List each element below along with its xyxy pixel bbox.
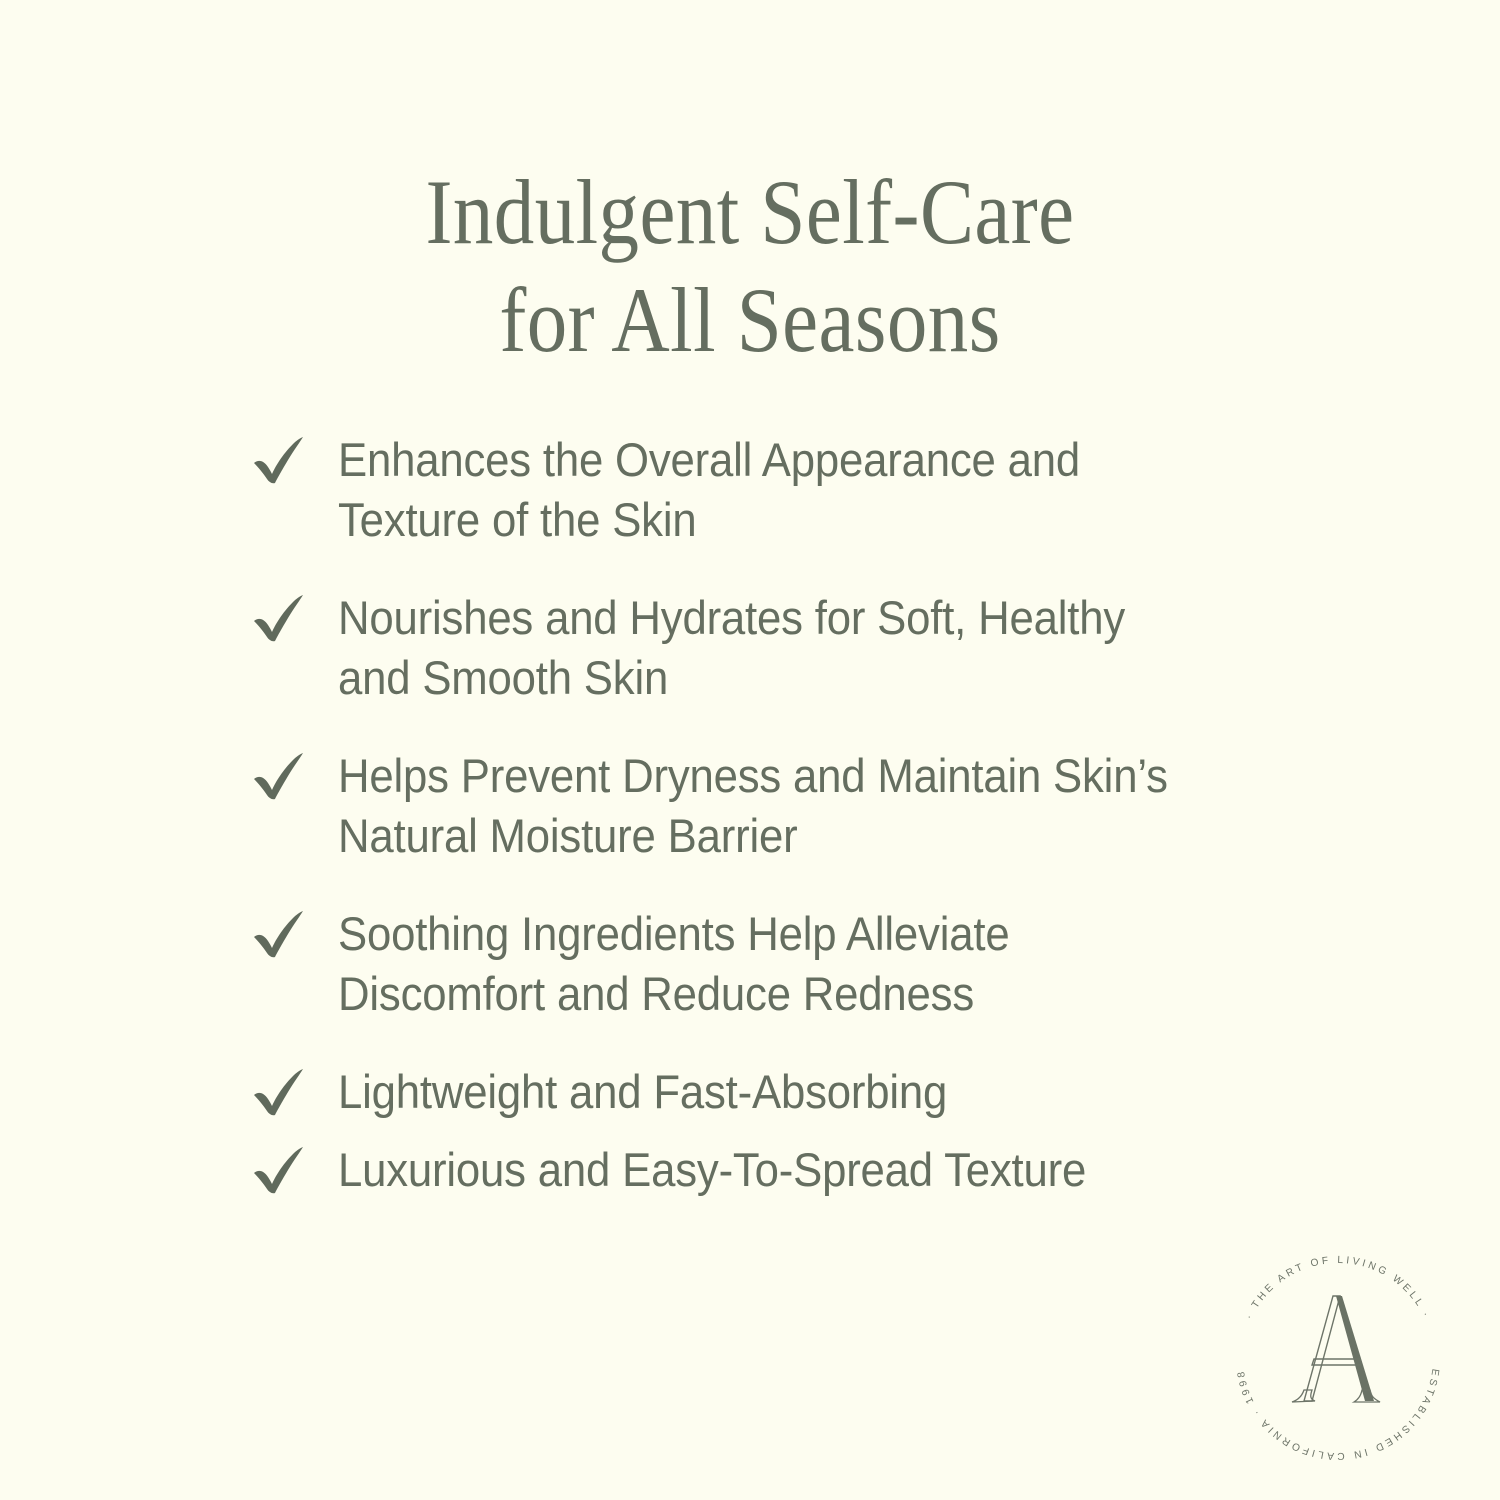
list-item-label: Nourishes and Hydrates for Soft, Healthy… — [338, 588, 1186, 708]
logo-monogram-a — [1292, 1296, 1380, 1402]
list-item: Enhances the Overall Appearance and Text… — [250, 430, 1250, 550]
list-item: Helps Prevent Dryness and Maintain Skin’… — [250, 746, 1250, 866]
title-line-2: for All Seasons — [90, 266, 1410, 374]
promo-panel: Indulgent Self-Care for All Seasons Enha… — [0, 0, 1500, 1500]
list-item-label: Soothing Ingredients Help Alleviate Disc… — [338, 904, 1186, 1024]
logo-ring-text-top: · THE ART OF LIVING WELL · — [1244, 1255, 1432, 1321]
list-item-label: Lightweight and Fast-Absorbing — [338, 1062, 1186, 1122]
logo-ring-text-bottom: ESTABLISHED IN CALIFORNIA · 1998 — [1236, 1368, 1441, 1461]
title-line-1: Indulgent Self-Care — [90, 158, 1410, 266]
list-item: Luxurious and Easy-To-Spread Texture — [250, 1140, 1250, 1200]
list-item-label: Luxurious and Easy-To-Spread Texture — [338, 1140, 1186, 1200]
checkmark-icon — [250, 1066, 308, 1118]
benefit-list: Enhances the Overall Appearance and Text… — [250, 430, 1250, 1218]
checkmark-icon — [250, 434, 308, 486]
checkmark-icon — [250, 750, 308, 802]
page-title: Indulgent Self-Care for All Seasons — [0, 158, 1500, 374]
checkmark-icon — [250, 908, 308, 960]
list-item: Lightweight and Fast-Absorbing — [250, 1062, 1250, 1122]
list-item: Nourishes and Hydrates for Soft, Healthy… — [250, 588, 1250, 708]
list-item-label: Helps Prevent Dryness and Maintain Skin’… — [338, 746, 1186, 866]
list-item: Soothing Ingredients Help Alleviate Disc… — [250, 904, 1250, 1024]
brand-logo-stamp: · THE ART OF LIVING WELL · ESTABLISHED I… — [1218, 1238, 1458, 1478]
checkmark-icon — [250, 592, 308, 644]
checkmark-icon — [250, 1144, 308, 1196]
list-item-label: Enhances the Overall Appearance and Text… — [338, 430, 1186, 550]
